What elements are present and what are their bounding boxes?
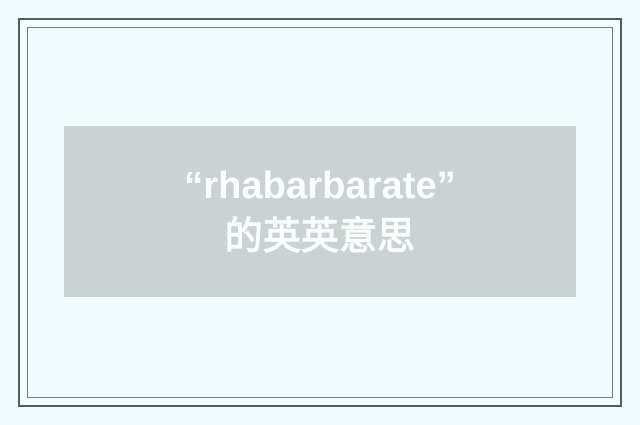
thumbnail-title: “rhabarbarate”的英英意思 — [170, 161, 470, 263]
screenshot-canvas: “rhabarbarate”的英英意思 — [0, 0, 640, 425]
thumbnail-media-block[interactable]: “rhabarbarate”的英英意思 — [64, 126, 576, 297]
